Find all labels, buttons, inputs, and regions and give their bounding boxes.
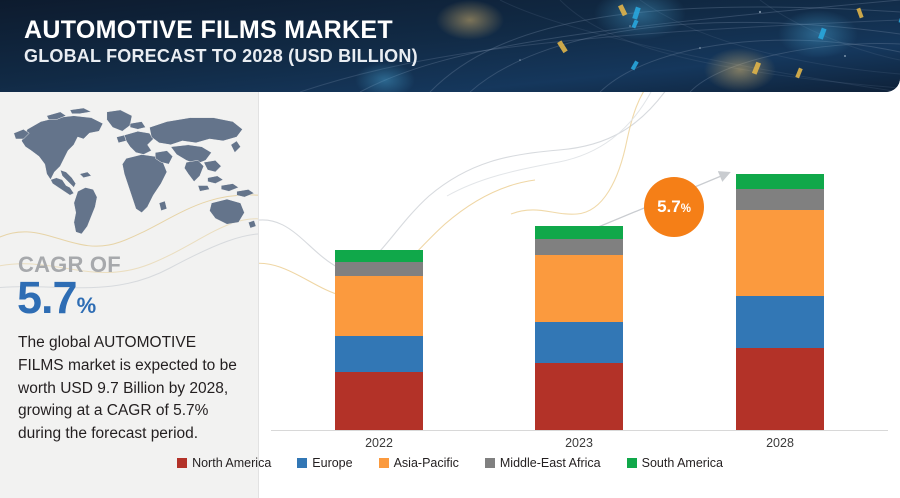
legend-swatch-middle-east-africa — [485, 458, 495, 468]
bar-2028[interactable] — [736, 174, 824, 430]
bar-segment-asia-pacific[interactable] — [535, 255, 623, 322]
bar-segment-south-america[interactable] — [335, 250, 423, 262]
legend-label-asia-pacific: Asia-Pacific — [394, 456, 459, 470]
legend-label-middle-east-africa: Middle-East Africa — [500, 456, 601, 470]
legend-label-europe: Europe — [312, 456, 352, 470]
legend-swatch-south-america — [627, 458, 637, 468]
legend-label-south-america: South America — [642, 456, 723, 470]
page-title: AUTOMOTIVE FILMS MARKET — [24, 17, 418, 43]
legend-item-south-america[interactable]: South America — [627, 456, 723, 470]
legend-swatch-north-america — [177, 458, 187, 468]
legend-item-europe[interactable]: Europe — [297, 456, 352, 470]
bar-segment-middle-east-africa[interactable] — [335, 262, 423, 276]
sidebar-description: The global AUTOMOTIVE FILMS market is ex… — [18, 332, 240, 446]
bar-segment-south-america[interactable] — [736, 174, 824, 189]
sidebar-panel: CAGR OF 5.7% The global AUTOMOTIVE FILMS… — [0, 92, 258, 498]
legend-item-middle-east-africa[interactable]: Middle-East Africa — [485, 456, 601, 470]
bar-segment-europe[interactable] — [335, 336, 423, 373]
x-axis-label-2023: 2023 — [519, 436, 639, 450]
bar-2023[interactable] — [535, 226, 623, 430]
page-subtitle: GLOBAL FORECAST TO 2028 (USD BILLION) — [24, 46, 418, 67]
bar-segment-europe[interactable] — [736, 296, 824, 348]
legend-swatch-europe — [297, 458, 307, 468]
bar-segment-europe[interactable] — [535, 322, 623, 363]
cagr-number: 5.7 — [17, 272, 77, 323]
bar-segment-asia-pacific[interactable] — [736, 210, 824, 296]
cagr-bubble-value: 5.7 — [657, 197, 681, 216]
bar-segment-south-america[interactable] — [535, 226, 623, 239]
bar-segment-middle-east-africa[interactable] — [736, 189, 824, 210]
bar-segment-north-america[interactable] — [535, 363, 623, 430]
x-axis-label-2022: 2022 — [319, 436, 439, 450]
chart-panel: 6.9 2022 7.4 2023 9.7 2028 — [259, 92, 900, 498]
cagr-bubble[interactable]: 5.7% — [644, 177, 704, 237]
cagr-bubble-percent: % — [681, 203, 691, 215]
cagr-percent-sign: % — [77, 293, 97, 318]
cagr-value: 5.7% — [17, 275, 96, 320]
x-axis-label-2028: 2028 — [720, 436, 840, 450]
bar-segment-asia-pacific[interactable] — [335, 276, 423, 336]
bar-segment-middle-east-africa[interactable] — [535, 239, 623, 255]
bar-segment-north-america[interactable] — [335, 372, 423, 430]
bar-segment-north-america[interactable] — [736, 348, 824, 430]
cagr-bubble-text: 5.7% — [657, 198, 691, 216]
world-map-graphic — [6, 100, 258, 240]
bar-2022[interactable] — [335, 250, 423, 430]
chart-legend: North America Europe Asia-Pacific Middle… — [0, 456, 900, 470]
legend-swatch-asia-pacific — [379, 458, 389, 468]
legend-item-asia-pacific[interactable]: Asia-Pacific — [379, 456, 459, 470]
chart-baseline — [271, 430, 888, 431]
header-text-block: AUTOMOTIVE FILMS MARKET GLOBAL FORECAST … — [24, 17, 418, 67]
legend-label-north-america: North America — [192, 456, 271, 470]
infographic-root: AUTOMOTIVE FILMS MARKET GLOBAL FORECAST … — [0, 0, 900, 498]
legend-item-north-america[interactable]: North America — [177, 456, 271, 470]
header-banner: AUTOMOTIVE FILMS MARKET GLOBAL FORECAST … — [0, 0, 900, 92]
world-map-icon — [6, 100, 258, 240]
